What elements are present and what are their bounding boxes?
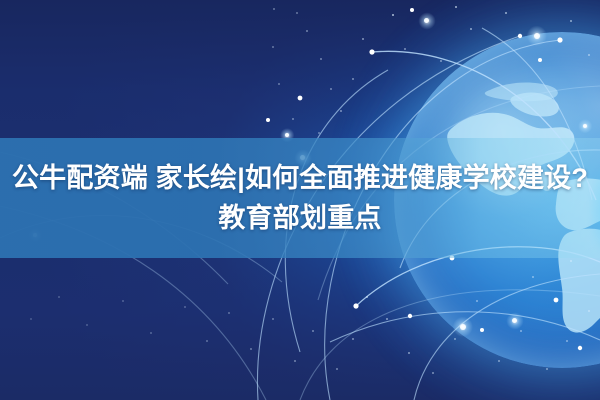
particle [454,338,456,340]
headline-line-2: 教育部划重点 [218,198,381,238]
particle [250,348,252,350]
particle [330,88,332,90]
banner-image: 公牛配资端 家长绘|如何全面推进健康学校建设? 教育部划重点 [0,0,600,400]
particle [566,340,568,342]
particle [392,14,394,16]
particle [292,118,294,120]
particle [273,8,275,10]
particle [58,296,60,298]
headline-line-1: 公牛配资端 家长绘|如何全面推进健康学校建设? [12,158,588,198]
particle [455,6,457,8]
particle [366,296,368,298]
headline-block: 公牛配资端 家长绘|如何全面推进健康学校建设? 教育部划重点 [0,138,600,258]
particle [296,12,298,14]
star-glow [534,33,540,39]
star-glow [583,124,587,128]
particle [184,306,186,308]
particle [206,340,208,342]
particle [352,78,354,80]
star-glow [424,18,429,23]
particle [476,300,478,302]
particle [404,48,406,50]
particle [272,318,274,320]
particle [318,132,320,134]
particle [505,12,507,14]
particle [520,330,522,332]
particle [362,38,364,40]
particle [278,83,280,85]
particle [432,372,434,374]
particle [272,46,274,48]
particle [306,30,308,32]
particle [440,60,442,62]
particle [408,352,410,354]
particle [570,20,572,22]
particle [122,300,124,302]
particle [294,360,296,362]
star-glow [285,133,289,137]
particle [340,110,342,112]
particle [320,58,322,60]
particle [546,368,548,370]
particle [30,318,32,320]
particle [588,310,590,312]
star-glow [512,318,517,323]
particle [588,54,590,56]
particle [336,368,338,370]
star-glow [460,324,466,330]
particle [312,330,314,332]
particle [470,28,472,30]
particle [570,260,572,262]
particle [150,332,152,334]
particle [228,312,230,314]
particle [352,338,354,340]
particle [498,360,500,362]
particle [386,318,388,320]
particle [86,324,88,326]
particle [532,276,534,278]
